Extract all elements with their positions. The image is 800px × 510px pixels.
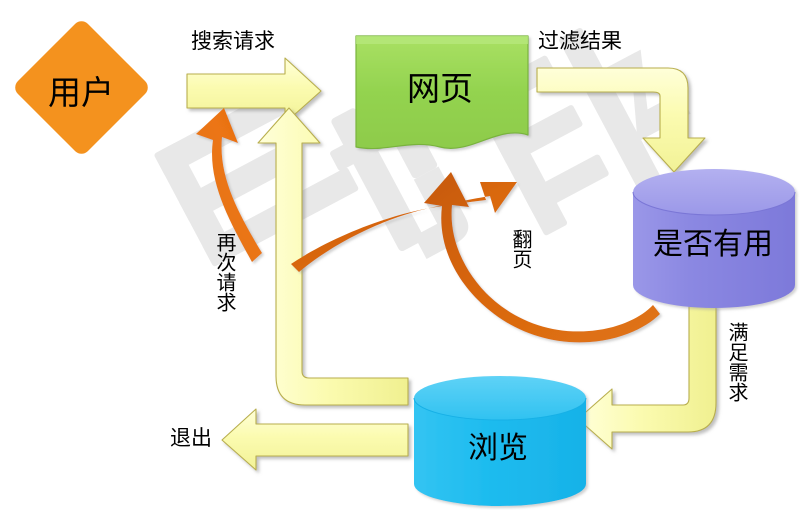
arrow-meets-demand bbox=[578, 305, 716, 449]
edge-label-page-turn: 翻页 bbox=[510, 229, 530, 269]
edge-label-filter-result: 过滤结果 bbox=[538, 30, 622, 52]
edge-label-request-again: 再次请求 bbox=[214, 232, 234, 312]
node-label-user: 用户 bbox=[11, 66, 151, 114]
edge-label-search-request: 搜索请求 bbox=[191, 30, 275, 52]
node-label-webpage: 网页 bbox=[352, 62, 528, 110]
node-label-useful: 是否有用 bbox=[632, 219, 794, 263]
flowchart-canvas: 用户 网页 是否有用 浏览 搜索请求 过滤结果 满足需求 退出 再次请求 翻页 bbox=[0, 0, 800, 510]
node-label-browse: 浏览 bbox=[412, 423, 584, 467]
arrow-exit bbox=[222, 409, 408, 470]
edge-label-meets-demand: 满足需求 bbox=[726, 322, 746, 402]
edge-label-exit: 退出 bbox=[170, 427, 212, 449]
